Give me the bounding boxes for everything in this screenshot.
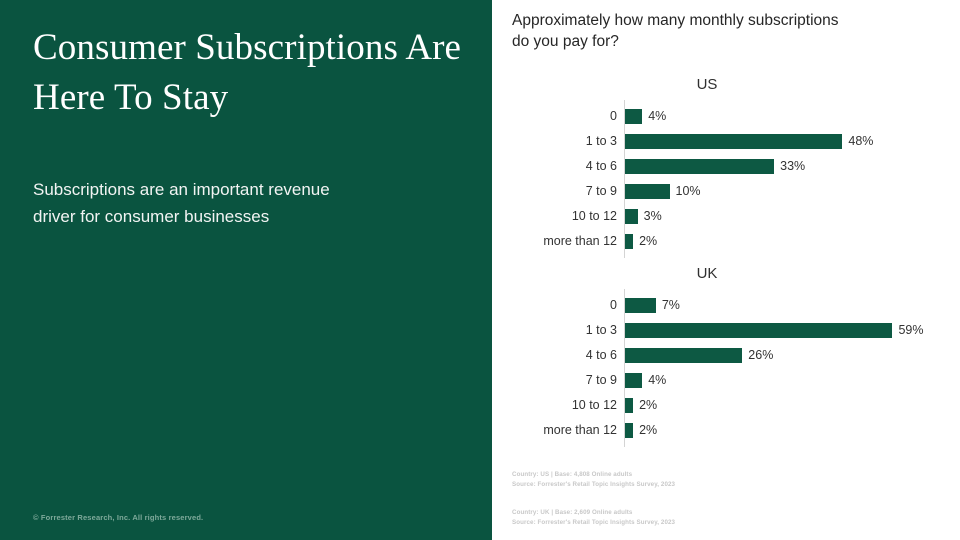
value-axis-line [624,289,625,447]
bar-value-label: 48% [848,129,873,154]
bar [624,348,742,363]
bar-track: 2% [624,393,960,418]
bar-track: 7% [624,293,960,318]
source-note-uk: Country: UK | Base: 2,609 Online adults … [512,508,675,528]
chart-uk-title: UK [492,265,922,282]
bar-track: 2% [624,229,960,254]
bar-category-label: more than 12 [492,418,617,443]
bar-category-label: 10 to 12 [492,393,617,418]
bar [624,423,633,438]
bar-track: 2% [624,418,960,443]
source-note-us-line2: Source: Forrester's Retail Topic Insight… [512,480,675,490]
bar-category-label: 7 to 9 [492,368,617,393]
bar-row: 7 to 94% [492,368,960,393]
left-title-panel: Consumer Subscriptions Are Here To Stay … [0,0,492,540]
bar-row: 4 to 633% [492,154,960,179]
bar-row: more than 122% [492,229,960,254]
chart-us-plot: 04%1 to 348%4 to 633%7 to 910%10 to 123%… [492,104,960,254]
bar-category-label: 1 to 3 [492,129,617,154]
bar [624,134,842,149]
source-note-uk-line2: Source: Forrester's Retail Topic Insight… [512,518,675,528]
chart-uk-plot: 07%1 to 359%4 to 626%7 to 94%10 to 122%m… [492,293,960,443]
bar-value-label: 59% [898,318,923,343]
bar-value-label: 2% [639,393,657,418]
bar [624,373,642,388]
source-note-us: Country: US | Base: 4,808 Online adults … [512,470,675,490]
bar-track: 4% [624,104,960,129]
bar-track: 48% [624,129,960,154]
bar-track: 26% [624,343,960,368]
bar [624,398,633,413]
copyright-notice: © Forrester Research, Inc. All rights re… [33,513,203,522]
bar [624,323,892,338]
bar-track: 59% [624,318,960,343]
bar-row: 07% [492,293,960,318]
survey-question: Approximately how many monthly subscript… [512,10,842,53]
bar-value-label: 26% [748,343,773,368]
bar-value-label: 10% [676,179,701,204]
bar-track: 10% [624,179,960,204]
source-note-uk-line1: Country: UK | Base: 2,609 Online adults [512,508,675,518]
bar [624,109,642,124]
bar-row: 1 to 359% [492,318,960,343]
bar-category-label: 0 [492,104,617,129]
source-note-us-line1: Country: US | Base: 4,808 Online adults [512,470,675,480]
bar-row: 4 to 626% [492,343,960,368]
bar-category-label: 0 [492,293,617,318]
bar-value-label: 4% [648,368,666,393]
bar-value-label: 3% [644,204,662,229]
chart-us-title: US [492,76,922,93]
bar-row: 7 to 910% [492,179,960,204]
bar-category-label: 10 to 12 [492,204,617,229]
bar-value-label: 2% [639,418,657,443]
bar [624,209,638,224]
bar-row: 10 to 123% [492,204,960,229]
bar-track: 33% [624,154,960,179]
bar-category-label: more than 12 [492,229,617,254]
bar-track: 3% [624,204,960,229]
bar-row: 1 to 348% [492,129,960,154]
bar [624,184,670,199]
value-axis-line [624,100,625,258]
bar-row: 04% [492,104,960,129]
bar-category-label: 1 to 3 [492,318,617,343]
bar-track: 4% [624,368,960,393]
bar-value-label: 33% [780,154,805,179]
slide-subtitle: Subscriptions are an important revenue d… [33,176,353,230]
bar [624,298,656,313]
slide-title: Consumer Subscriptions Are Here To Stay [33,23,463,122]
bar-category-label: 7 to 9 [492,179,617,204]
bar-row: more than 122% [492,418,960,443]
bar [624,234,633,249]
right-chart-panel: Approximately how many monthly subscript… [492,0,960,540]
bar-category-label: 4 to 6 [492,154,617,179]
bar-value-label: 4% [648,104,666,129]
bar-value-label: 2% [639,229,657,254]
bar-value-label: 7% [662,293,680,318]
slide: Consumer Subscriptions Are Here To Stay … [0,0,960,540]
bar-row: 10 to 122% [492,393,960,418]
bar-category-label: 4 to 6 [492,343,617,368]
bar [624,159,774,174]
